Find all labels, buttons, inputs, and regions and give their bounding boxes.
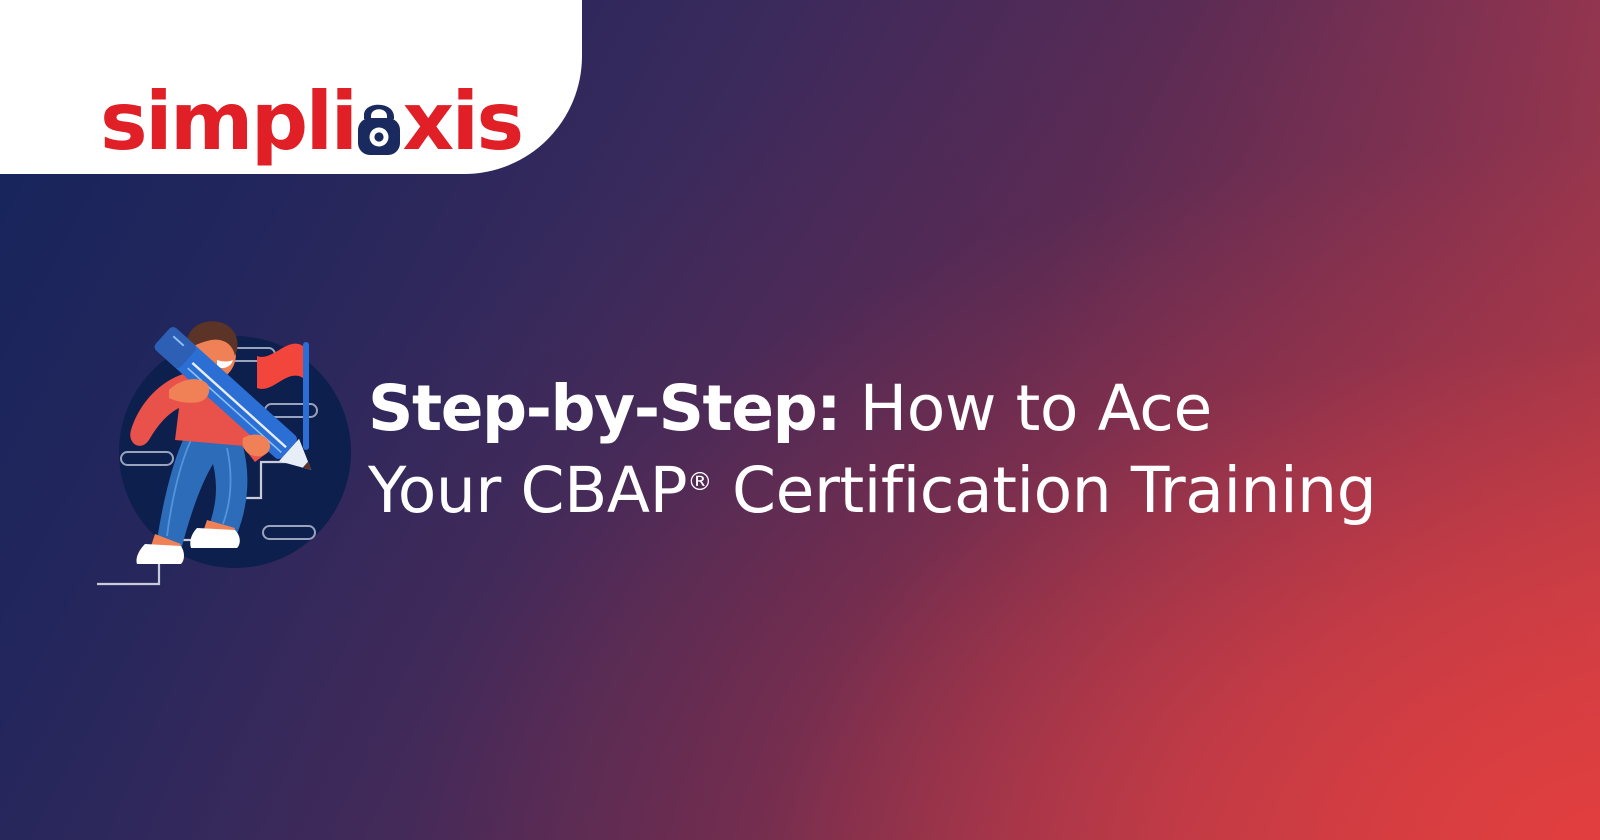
flag-pole (303, 342, 309, 450)
promo-banner: simpli xis (0, 0, 1600, 840)
logo-text-xis: xis (403, 82, 522, 162)
shoe-back (136, 544, 184, 564)
shoe-front (190, 528, 240, 548)
headline-line2-before: Your CBAP (368, 454, 687, 527)
headline-line-2: Your CBAP® Certification Training (368, 450, 1508, 532)
hero-illustration (95, 312, 370, 590)
brand-logo[interactable]: simpli xis (100, 82, 522, 162)
registered-trademark-icon: ® (687, 467, 712, 496)
logo-text-simpli: simpli (100, 82, 356, 162)
page-title: Step-by-Step: How to Ace Your CBAP® Cert… (368, 368, 1508, 532)
headline-line1-regular: How to Ace (840, 372, 1212, 445)
logo-letter-a-icon (354, 93, 404, 149)
headline-strong: Step-by-Step: (368, 372, 840, 445)
headline-line2-after: Certification Training (712, 454, 1376, 527)
headline-line-1: Step-by-Step: How to Ace (368, 368, 1508, 450)
